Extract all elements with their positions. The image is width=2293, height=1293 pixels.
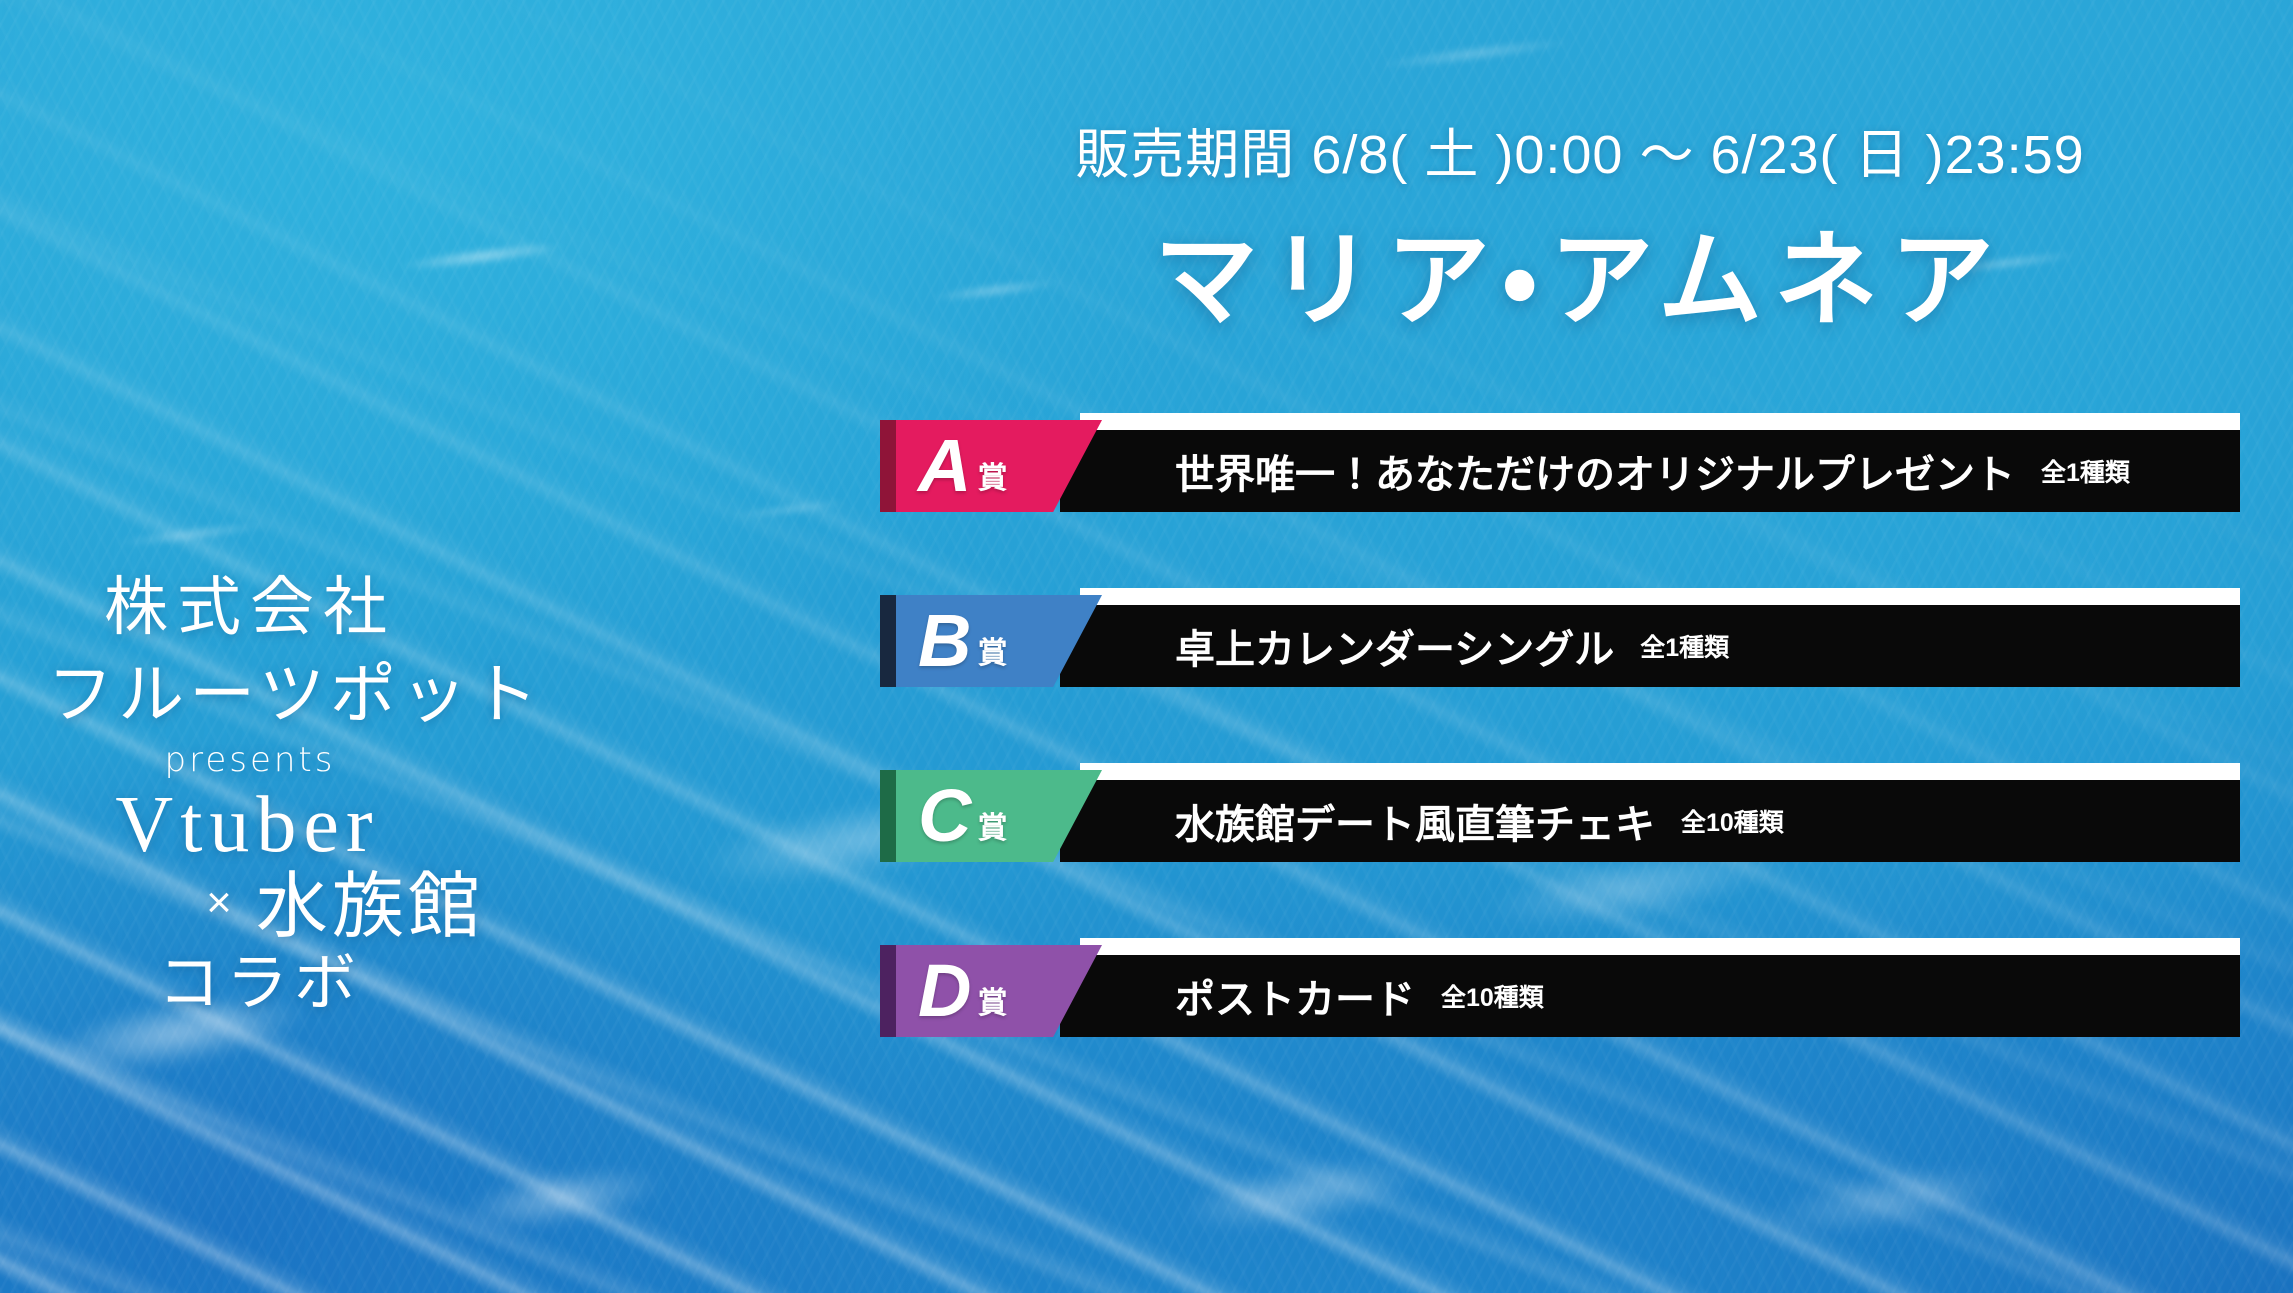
series-title: マリア・アムネア [880,195,2280,346]
prize-row: B 賞 卓上カレンダーシングル 全1種類 [880,588,2293,687]
prize-quantity: 全1種類 [1640,628,1729,664]
company-prefix: 株式会社 [0,575,620,639]
sale-period: 販売期間 6/8( 土 )0:00 ～ 6/23( 日 )23:59 [880,110,2280,189]
prize-name: ポストカード [1175,967,1415,1025]
row-cap-strip [1080,588,2240,605]
collab-word: コラボ [0,953,620,1015]
prize-row: C 賞 水族館デート風直筆チェキ 全10種類 [880,763,2293,862]
badge-rank-letter: B [918,604,971,678]
prize-quantity: 全1種類 [2041,453,2130,489]
content-column: 販売期間 6/8( 土 )0:00 ～ 6/23( 日 )23:59 マリア・ア… [880,0,2293,1293]
badge-stripe [880,595,896,687]
badge-stripe [880,945,896,1037]
prize-row: D 賞 ポストカード 全10種類 [880,938,2293,1037]
promo-banner: 株式会社 フルーツポット presents Vtuber ×水族館 コラボ 販売… [0,0,2293,1293]
vtuber-word: Vtuber [0,785,620,865]
badge-rank-suffix: 賞 [977,814,1007,844]
aquarium-word: 水族館 [256,867,484,947]
badge-rank-suffix: 賞 [977,989,1007,1019]
row-cap-strip [1080,413,2240,430]
prize-text: ポストカード 全10種類 [1175,955,1544,1037]
badge-rank-letter: C [918,779,971,853]
badge-rank-letter: A [918,429,971,503]
badge-rank-suffix: 賞 [977,639,1007,669]
prize-row: A 賞 世界唯一！あなただけのオリジナルプレゼント 全1種類 [880,413,2293,512]
badge-rank-letter: D [918,954,971,1028]
prize-text: 卓上カレンダーシングル 全1種類 [1175,605,1729,687]
cross-icon: × [206,878,236,927]
presents-label: presents [0,743,620,777]
prize-text: 水族館デート風直筆チェキ 全10種類 [1175,780,1784,862]
prize-name: 卓上カレンダーシングル [1175,617,1614,675]
badge-stripe [880,770,896,862]
badge-stripe [880,420,896,512]
collab-logo: 株式会社 フルーツポット presents Vtuber ×水族館 コラボ [0,575,620,1015]
prize-quantity: 全10種類 [1681,803,1784,839]
company-name: フルーツポット [0,661,620,727]
prize-text: 世界唯一！あなただけのオリジナルプレゼント 全1種類 [1175,430,2130,512]
aquarium-line: ×水族館 [70,871,620,943]
prize-name: 水族館デート風直筆チェキ [1175,792,1655,850]
row-cap-strip [1080,763,2240,780]
row-cap-strip [1080,938,2240,955]
prize-name: 世界唯一！あなただけのオリジナルプレゼント [1175,442,2015,500]
prize-quantity: 全10種類 [1441,978,1544,1014]
prize-list: A 賞 世界唯一！あなただけのオリジナルプレゼント 全1種類 B 賞 卓上カレン… [880,413,2293,1037]
badge-rank-suffix: 賞 [977,464,1007,494]
